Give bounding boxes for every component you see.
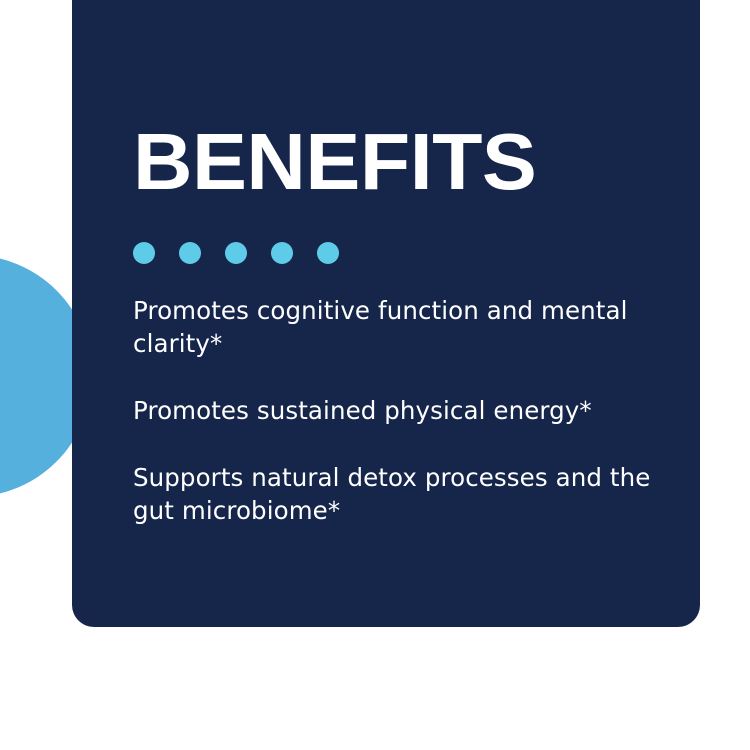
page-title: BENEFITS [133,122,536,202]
divider-dot-2 [179,242,201,264]
benefit-item: Supports natural detox processes and the… [133,461,661,527]
benefits-graphic: BENEFITS Promotes cognitive function and… [0,0,750,750]
benefit-item: Promotes sustained physical energy* [133,394,661,427]
benefits-list: Promotes cognitive function and mental c… [133,294,661,527]
divider-dot-3 [225,242,247,264]
card-content: BENEFITS Promotes cognitive function and… [133,0,680,627]
divider-dot-5 [317,242,339,264]
benefits-card: BENEFITS Promotes cognitive function and… [72,0,700,627]
divider-dot-4 [271,242,293,264]
dot-divider [133,242,339,264]
benefit-item: Promotes cognitive function and mental c… [133,294,661,360]
divider-dot-1 [133,242,155,264]
